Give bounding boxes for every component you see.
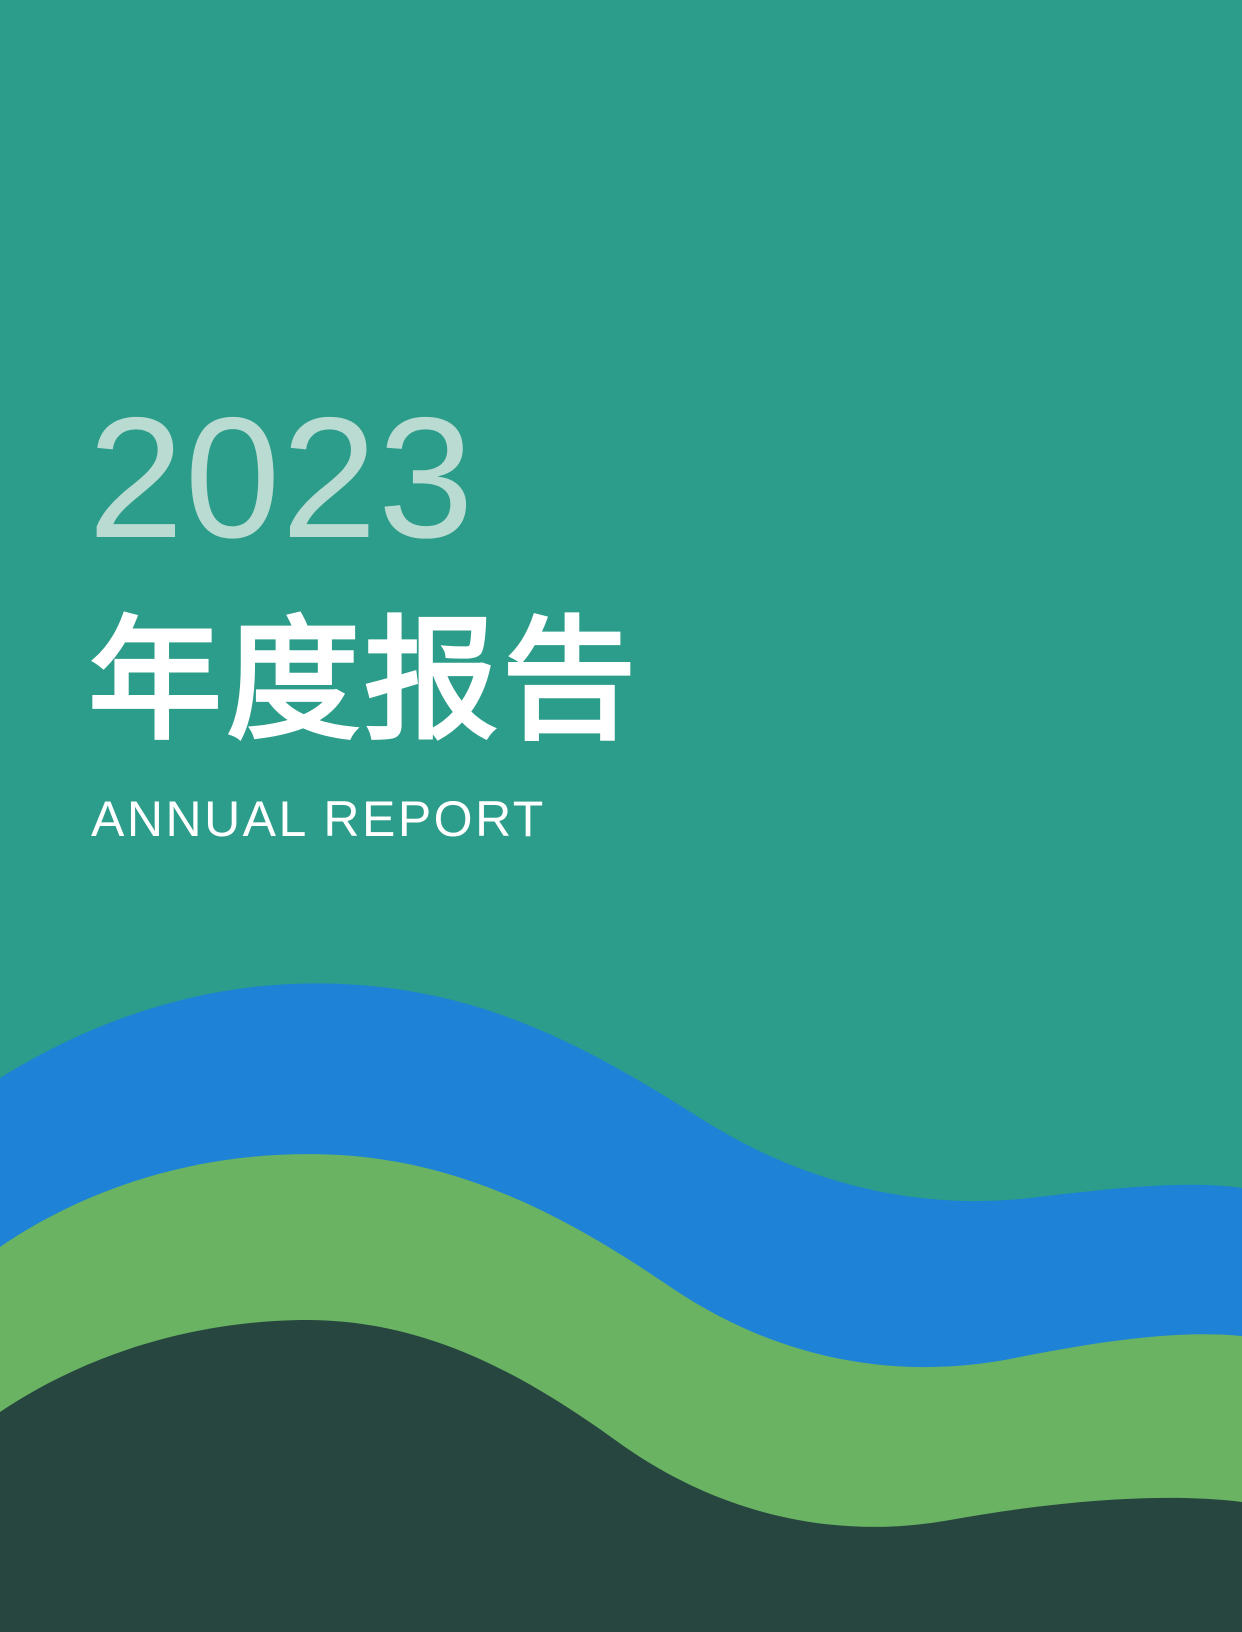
cover-subtitle-english: ANNUAL REPORT — [91, 794, 988, 844]
report-cover-page: 2023 年度报告 ANNUAL REPORT — [0, 0, 1242, 1632]
cover-text-block: 2023 年度报告 ANNUAL REPORT — [88, 392, 988, 844]
cover-year: 2023 — [88, 392, 988, 564]
cover-title-chinese: 年度报告 — [88, 606, 988, 756]
